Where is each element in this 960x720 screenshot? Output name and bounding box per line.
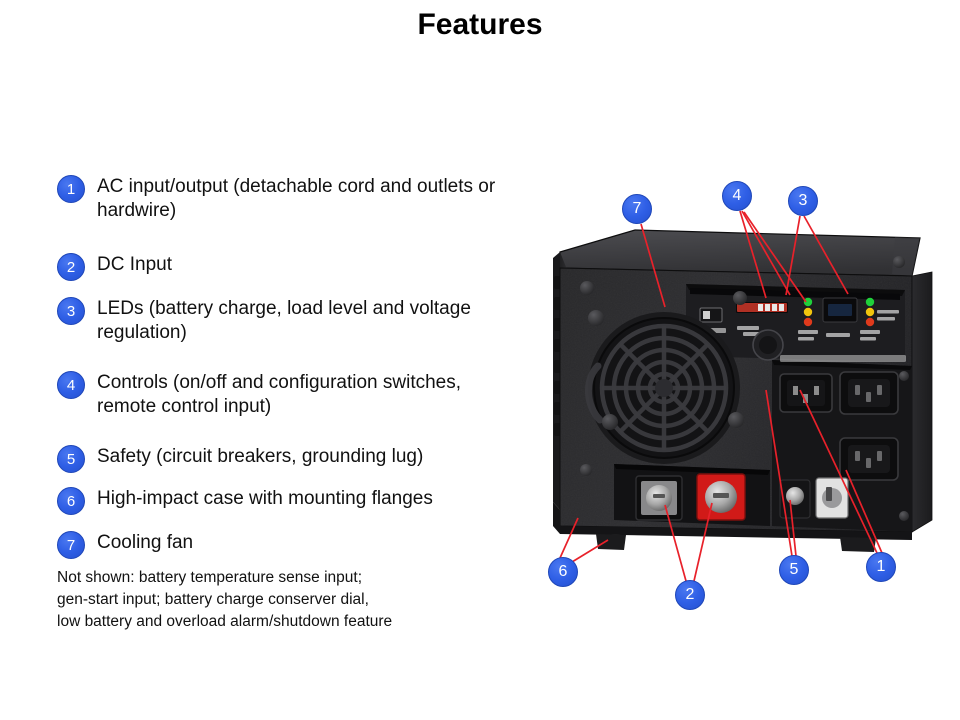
callout-7[interactable]: 7 [622,194,652,224]
product-photo-inverter [540,180,960,600]
feature-label-4: Controls (on/off and configuration switc… [97,371,517,419]
feature-badge-4: 4 [57,371,85,399]
remote-control-port [823,298,857,322]
cooling-fan-grille [588,312,740,464]
slide-canvas: Features 1 AC input/output (detachable c… [0,0,960,720]
feature-badge-2: 2 [57,253,85,281]
ac-inlet-c14 [780,374,832,412]
footnote-line-2: gen-start input; battery charge conserve… [57,589,392,611]
list-item: 2 DC Input [57,253,172,281]
list-item: 1 AC input/output (detachable cord and o… [57,175,517,223]
ac-bay-label [780,355,906,362]
list-item: 7 Cooling fan [57,531,193,559]
feature-label-7: Cooling fan [97,531,193,555]
feature-badge-1: 1 [57,175,85,203]
feature-badge-6: 6 [57,487,85,515]
ac-outlet-c13-top [840,372,898,414]
callout-1[interactable]: 1 [866,552,896,582]
footnote-line-1: Not shown: battery temperature sense inp… [57,567,392,589]
mounting-flange-right [840,537,876,552]
feature-label-3: LEDs (battery charge, load level and vol… [97,297,517,345]
panel-window [700,308,722,322]
list-item: 6 High-impact case with mounting flanges [57,487,433,515]
ac-outlet-c13-bottom [840,438,898,480]
dc-terminal-positive [697,474,745,520]
list-item: 5 Safety (circuit breakers, grounding lu… [57,445,423,473]
mounting-flange-left [596,534,626,550]
led-column-charge [804,298,812,326]
list-item: 3 LEDs (battery charge, load level and v… [57,297,517,345]
callout-5[interactable]: 5 [779,555,809,585]
feature-label-1: AC input/output (detachable cord and out… [97,175,517,223]
feature-badge-3: 3 [57,297,85,325]
feature-label-2: DC Input [97,253,172,277]
feature-label-6: High-impact case with mounting flanges [97,487,433,511]
feature-label-5: Safety (circuit breakers, grounding lug) [97,445,423,469]
list-item: 4 Controls (on/off and configuration swi… [57,371,517,419]
feature-badge-7: 7 [57,531,85,559]
device-right-side [912,272,932,532]
feature-badge-5: 5 [57,445,85,473]
callout-3[interactable]: 3 [788,186,818,216]
dc-terminal-negative [636,476,682,520]
footnote-line-3: low battery and overload alarm/shutdown … [57,611,392,633]
page-title: Features [0,8,960,42]
footnote: Not shown: battery temperature sense inp… [57,567,392,633]
callout-4[interactable]: 4 [722,181,752,211]
callout-6[interactable]: 6 [548,557,578,587]
led-column-load [866,298,874,326]
callout-2[interactable]: 2 [675,580,705,610]
